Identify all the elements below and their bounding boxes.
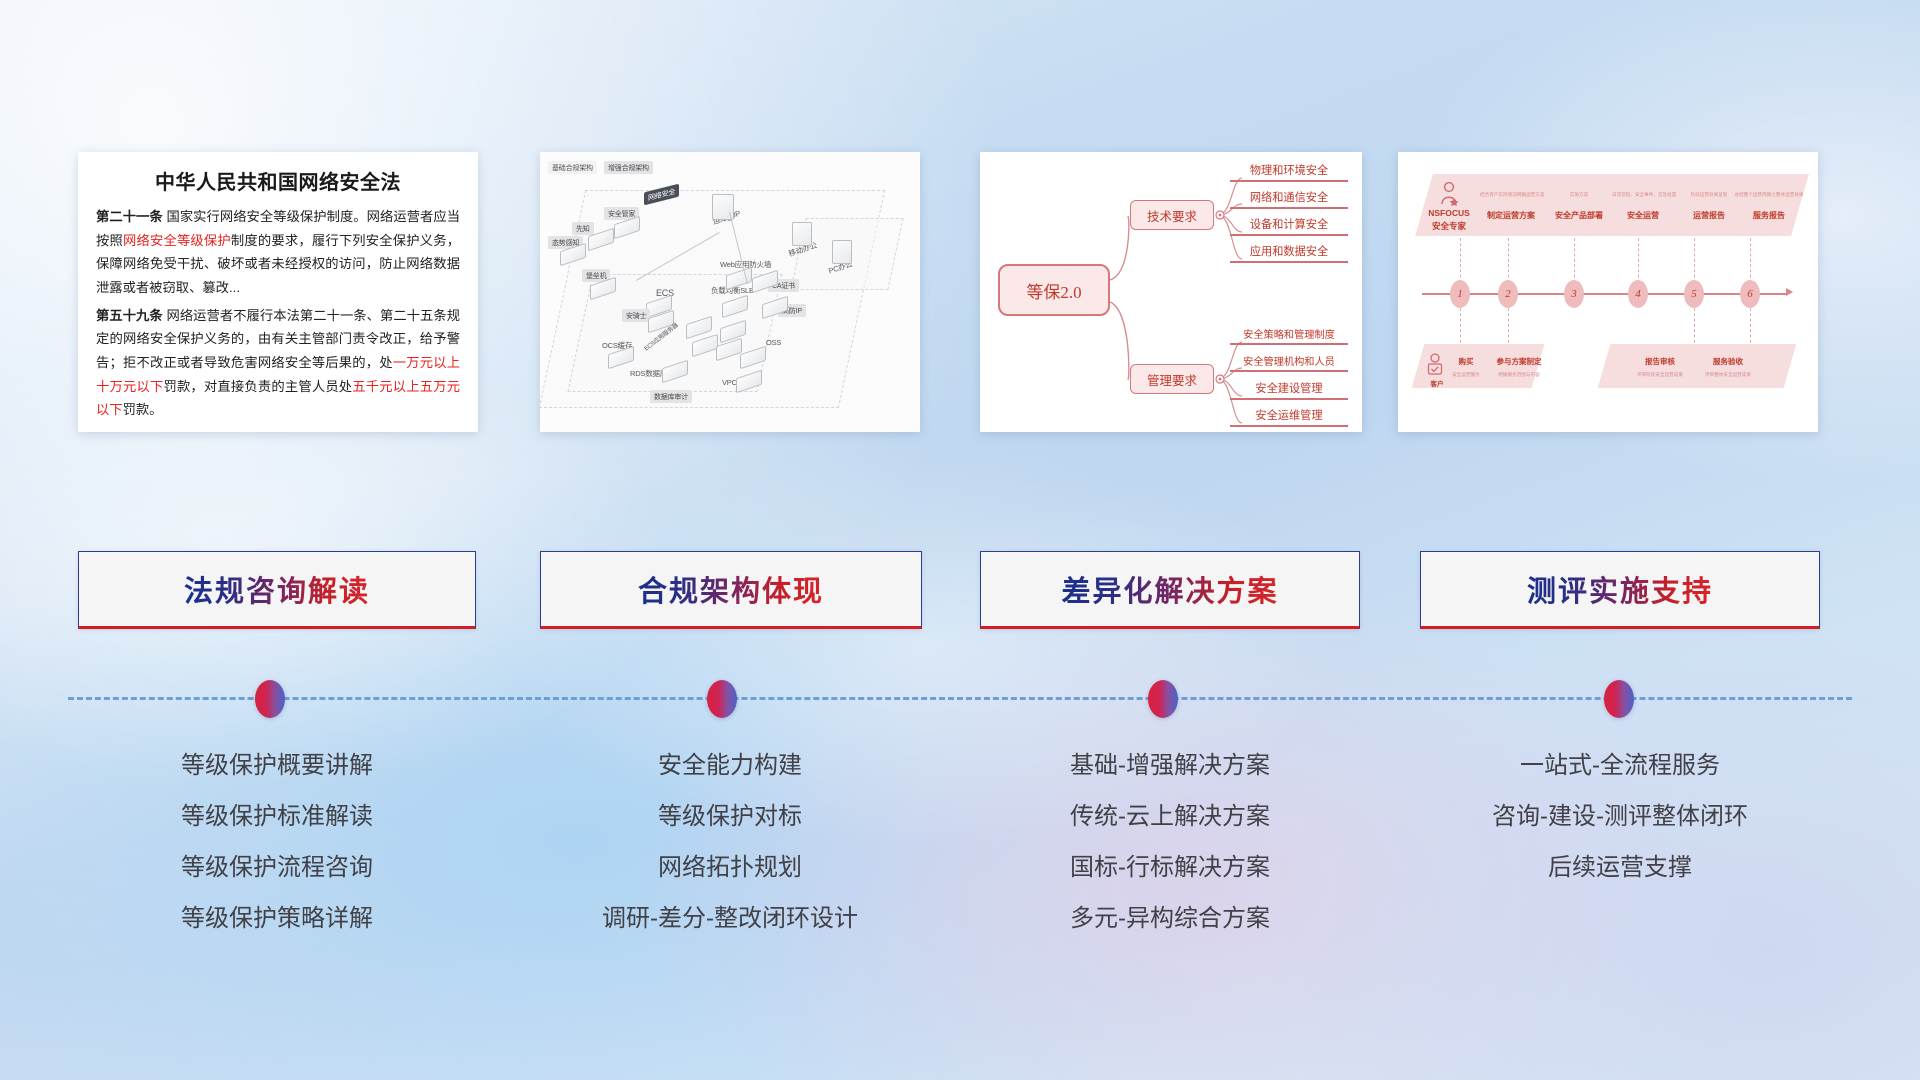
mindmap-branch-management: 管理要求 (1130, 364, 1214, 394)
section-title-4: 测评实施支持 (1527, 568, 1713, 610)
bottom-right-1-title: 报告审核 (1636, 356, 1684, 367)
tab-enhanced-architecture: 增强合规架构 (604, 161, 653, 174)
mindmap-leaf-construction: 安全建设管理 (1230, 380, 1348, 400)
card-cybersecurity-law: 中华人民共和国网络安全法 第二十一条 国家实行网络安全等级保护制度。网络运营者应… (78, 152, 478, 432)
section-title-box-4[interactable]: 测评实施支持 (1420, 551, 1820, 629)
bottom-left-1-sub: 安全运营服务 (1444, 372, 1488, 378)
feature-list-3: 基础-增强解决方案 传统-云上解决方案 国标-行标解决方案 多元-异构综合方案 (960, 740, 1380, 944)
step-3-title: 安全运营 (1612, 210, 1674, 221)
mindmap-branch-technical: 技术要求 (1130, 200, 1214, 230)
node-label-anqishi: 安骑士 (622, 309, 650, 322)
timeline-dashed-line (68, 697, 1852, 700)
section-title-box-1[interactable]: 法规咨询解读 (78, 551, 476, 629)
list-item: 等级保护概要讲解 (78, 740, 476, 791)
node-label-db-audit: 数据库审计 (650, 390, 692, 403)
article-59-text-c: 罚款。 (123, 402, 163, 417)
step-3-sub: 日常巡检、安全事件、应急处置 (1612, 192, 1674, 198)
nsfocus-bottom-right-band (1598, 344, 1797, 388)
list-item: 国标-行标解决方案 (960, 842, 1380, 893)
step-5-sub: 总结整个运营周期之整体运营效果 (1734, 192, 1804, 198)
mindmap-leaf-org-personnel: 安全管理机构和人员 (1230, 353, 1348, 372)
feature-list-1: 等级保护概要讲解 等级保护标准解读 等级保护流程咨询 等级保护策略详解 (78, 740, 476, 944)
timeline-marker-4 (1604, 680, 1634, 718)
list-item: 网络拓扑规划 (520, 842, 940, 893)
customer-label: 客户 (1420, 378, 1454, 388)
step-4-sub: 阶段运营效果呈现 (1678, 192, 1740, 198)
mindmap-leaf-device-compute: 设备和计算安全 (1230, 216, 1348, 236)
feature-list-4: 一站式-全流程服务 咨询-建设-测评整体闭环 后续运营支撑 (1400, 740, 1840, 893)
step-5-title: 服务报告 (1734, 210, 1804, 221)
list-item: 后续运营支撑 (1400, 842, 1840, 893)
timeline-arrow-icon (1786, 288, 1793, 296)
law-article-21: 第二十一条 国家实行网络安全等级保护制度。网络运营者应当按照网络安全等级保护制度… (96, 205, 460, 300)
nsfocus-canvas: NSFOCUS 安全专家 结合客户实际情况明确运营方案 制定运营方案 实施方案 … (1398, 152, 1818, 432)
list-item: 一站式-全流程服务 (1400, 740, 1840, 791)
section-title-3: 差异化解决方案 (1061, 568, 1278, 610)
card-mindmap-dengbao: 等保2.0 技术要求 管理要求 物理和环境安全 网络和通信安全 设备和计算安全 … (980, 152, 1362, 432)
law-text-block: 中华人民共和国网络安全法 第二十一条 国家实行网络安全等级保护制度。网络运营者应… (78, 152, 478, 432)
section-title-1: 法规咨询解读 (184, 568, 370, 610)
mindmap-leaf-network-comm: 网络和通信安全 (1230, 189, 1348, 209)
card-architecture-diagram: 基础合规架构 增强合规架构 网络安全 安全管家 先知 态势感知 堡垒机 ECS … (540, 152, 920, 432)
timeline-node-3: 3 (1564, 280, 1584, 308)
timeline-node-1: 1 (1450, 280, 1470, 308)
list-item: 基础-增强解决方案 (960, 740, 1380, 791)
bottom-right-2-sub: 评审整体安全运营成果 (1694, 372, 1762, 378)
list-item: 调研-差分-整改闭环设计 (520, 893, 940, 944)
node-label-xianzhi: 先知 (572, 222, 594, 235)
section-title-2: 合规架构体现 (638, 568, 824, 610)
section-title-box-2[interactable]: 合规架构体现 (540, 551, 922, 629)
timeline-node-5: 5 (1684, 280, 1704, 308)
law-article-59: 第五十九条 网络运营者不履行本法第二十一条、第二十五条规定的网络安全保护义务的，… (96, 304, 460, 422)
mindmap-leaf-operation: 安全运维管理 (1230, 407, 1348, 427)
timeline-node-2: 2 (1498, 280, 1518, 308)
step-1-title: 制定运营方案 (1480, 210, 1542, 221)
customer-avatar-icon (1426, 352, 1444, 376)
list-item: 等级保护标准解读 (78, 791, 476, 842)
mindmap-root-node: 等保2.0 (998, 264, 1110, 316)
list-item: 传统-云上解决方案 (960, 791, 1380, 842)
section-title-box-3[interactable]: 差异化解决方案 (980, 551, 1360, 629)
article-21-label: 第二十一条 (96, 209, 163, 224)
law-title: 中华人民共和国网络安全法 (96, 166, 460, 195)
list-item: 安全能力构建 (520, 740, 940, 791)
mindmap-leaf-physical-env: 物理和环境安全 (1230, 162, 1348, 182)
mindmap-canvas: 等保2.0 技术要求 管理要求 物理和环境安全 网络和通信安全 设备和计算安全 … (980, 152, 1362, 432)
list-item: 等级保护策略详解 (78, 893, 476, 944)
step-1-sub: 结合客户实际情况明确运营方案 (1480, 192, 1542, 198)
bottom-right-2-title: 服务验收 (1704, 356, 1752, 367)
mindmap-leaf-app-data: 应用和数据安全 (1230, 243, 1348, 263)
step-4-title: 运营报告 (1678, 210, 1740, 221)
step-2-sub: 实施方案 (1550, 192, 1608, 198)
timeline-marker-3 (1148, 680, 1178, 718)
bottom-right-1-sub: 评审阶段安全运营成果 (1628, 372, 1692, 378)
nsfocus-brand-line2: 安全专家 (1420, 220, 1478, 232)
bottom-left-2-sub: 明确服务范围与内容 (1490, 372, 1548, 378)
timeline-marker-2 (707, 680, 737, 718)
list-item: 等级保护流程咨询 (78, 842, 476, 893)
article-59-text-b: 罚款，对直接负责的主管人员处 (163, 379, 352, 394)
nsfocus-brand-line1: NSFOCUS (1420, 208, 1478, 218)
card-nsfocus-timeline: NSFOCUS 安全专家 结合客户实际情况明确运营方案 制定运营方案 实施方案 … (1398, 152, 1818, 432)
timeline-axis (1422, 293, 1788, 295)
article-59-label: 第五十九条 (96, 308, 163, 323)
feature-list-2: 安全能力构建 等级保护对标 网络拓扑规划 调研-差分-整改闭环设计 (520, 740, 940, 944)
tab-basic-architecture: 基础合规架构 (548, 161, 597, 174)
timeline-node-6: 6 (1740, 280, 1760, 308)
list-item: 咨询-建设-测评整体闭环 (1400, 791, 1840, 842)
mindmap-leaf-policy-system: 安全策略和管理制度 (1230, 326, 1348, 345)
list-item: 多元-异构综合方案 (960, 893, 1380, 944)
article-21-highlight: 网络安全等级保护 (123, 233, 231, 248)
timeline-node-4: 4 (1628, 280, 1648, 308)
list-item: 等级保护对标 (520, 791, 940, 842)
bottom-left-1-title: 购买 (1448, 356, 1484, 367)
bottom-left-2-title: 参与方案制定 (1490, 356, 1548, 367)
architecture-canvas: 基础合规架构 增强合规架构 网络安全 安全管家 先知 态势感知 堡垒机 ECS … (540, 152, 920, 432)
timeline-marker-1 (255, 680, 285, 718)
step-2-title: 安全产品部署 (1550, 210, 1608, 221)
expert-avatar-icon (1438, 180, 1460, 206)
